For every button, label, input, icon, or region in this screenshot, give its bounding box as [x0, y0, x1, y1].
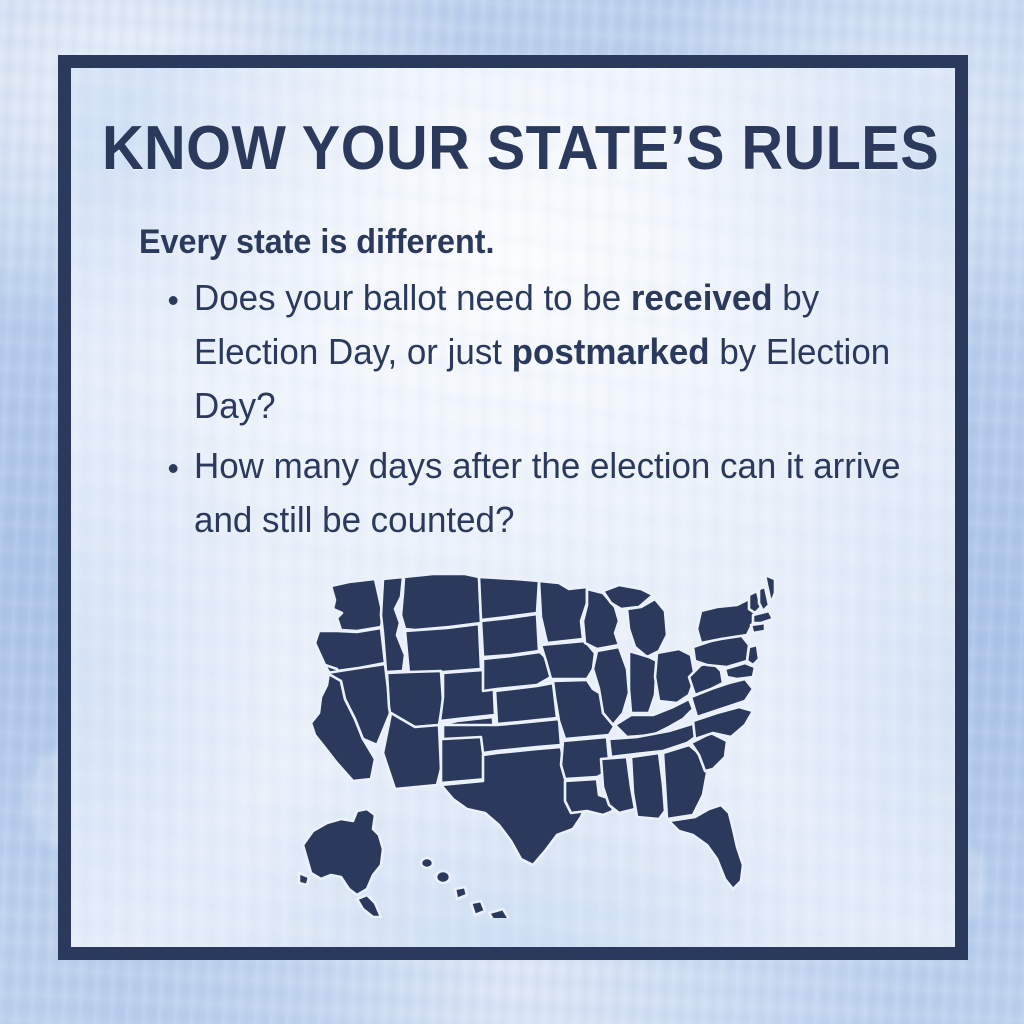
map-states	[299, 574, 775, 918]
lead-text: Every state is different.	[139, 223, 494, 262]
emphasis-text: received	[631, 277, 773, 318]
united-states-map	[297, 573, 777, 918]
poster: KNOW YOUR STATE’S RULES Every state is d…	[0, 0, 1024, 1024]
list-item: How many days after the election can it …	[163, 439, 929, 547]
emphasis-text: postmarked	[512, 331, 710, 372]
poster-frame: KNOW YOUR STATE’S RULES Every state is d…	[58, 55, 968, 960]
rules-bullet-list: Does your ballot need to be received by …	[163, 271, 953, 553]
list-item: Does your ballot need to be received by …	[163, 271, 929, 433]
poster-content: KNOW YOUR STATE’S RULES Every state is d…	[71, 68, 955, 947]
page-title: KNOW YOUR STATE’S RULES	[102, 113, 924, 184]
